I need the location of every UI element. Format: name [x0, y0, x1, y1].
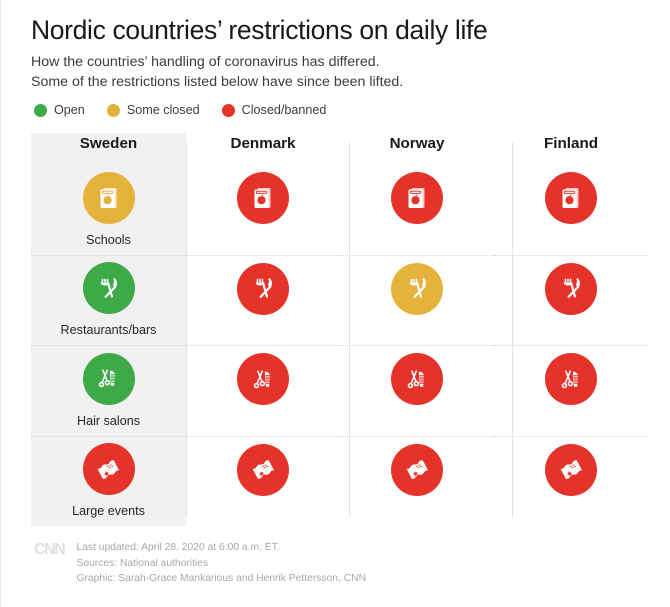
row-label-large-events: Large events: [72, 504, 145, 518]
circle-green-icon: [34, 104, 47, 117]
cell-denmark-schools: [186, 164, 340, 255]
page-subtitle: How the countries’ handling of coronavir…: [31, 52, 646, 92]
status-badge: [83, 353, 135, 405]
status-badge: [237, 353, 289, 405]
fork-knife-icon: [404, 275, 431, 302]
column-header-finland: Finland: [494, 133, 648, 164]
fork-knife-icon: [250, 275, 277, 302]
status-badge: [83, 262, 135, 314]
cell-norway-hair-salons: [340, 345, 494, 436]
legend-item-some-closed: Some closed: [107, 103, 200, 117]
legend-item-open: Open: [34, 103, 85, 117]
ticket-icon: [250, 456, 277, 483]
cell-sweden-hair-salons: Hair salons: [31, 345, 186, 436]
status-badge: [545, 263, 597, 315]
scissors-comb-icon: [95, 365, 122, 392]
legend-label-some-closed: Some closed: [127, 103, 200, 117]
cell-norway-restaurants: [340, 255, 494, 346]
row-label-hair-salons: Hair salons: [77, 414, 140, 428]
legend-item-closed: Closed/banned: [222, 103, 327, 117]
ticket-icon: [404, 456, 431, 483]
column-header-sweden: Sweden: [31, 133, 186, 164]
status-badge: [545, 444, 597, 496]
sources-text: Sources: National authorities: [76, 556, 366, 572]
cell-finland-schools: [494, 164, 648, 255]
circle-yellow-icon: [107, 104, 120, 117]
status-badge: [545, 353, 597, 405]
comparison-matrix: Sweden Denmark Norway Finland Schools: [31, 133, 648, 526]
credits: Last updated: April 28, 2020 at 6:00 a.m…: [76, 540, 366, 587]
book-apple-icon: [96, 185, 122, 211]
status-badge: [83, 443, 135, 495]
cell-denmark-large-events: [186, 436, 340, 527]
cnn-logo-icon: CNN: [34, 540, 64, 559]
legend-label-open: Open: [54, 103, 85, 117]
status-badge: [391, 444, 443, 496]
status-badge: [391, 263, 443, 315]
cell-finland-large-events: [494, 436, 648, 527]
status-badge: [391, 353, 443, 405]
book-apple-icon: [250, 185, 276, 211]
ticket-icon: [95, 456, 122, 483]
status-badge: [237, 444, 289, 496]
cell-norway-schools: [340, 164, 494, 255]
cell-finland-hair-salons: [494, 345, 648, 436]
last-updated-text: Last updated: April 28, 2020 at 6:00 a.m…: [76, 540, 366, 556]
header: Nordic countries’ restrictions on daily …: [1, 1, 670, 92]
fork-knife-icon: [95, 275, 122, 302]
scissors-comb-icon: [250, 366, 277, 393]
cell-denmark-restaurants: [186, 255, 340, 346]
cell-norway-large-events: [340, 436, 494, 527]
page-title: Nordic countries’ restrictions on daily …: [31, 15, 646, 46]
legend-label-closed: Closed/banned: [242, 103, 327, 117]
book-apple-icon: [558, 185, 584, 211]
column-header-denmark: Denmark: [186, 133, 340, 164]
cell-sweden-schools: Schools: [31, 164, 186, 255]
subtitle-line-1: How the countries’ handling of coronavir…: [31, 52, 646, 72]
cell-finland-restaurants: [494, 255, 648, 346]
subtitle-line-2: Some of the restrictions listed below ha…: [31, 72, 646, 92]
cell-sweden-restaurants: Restaurants/bars: [31, 255, 186, 346]
column-header-norway: Norway: [340, 133, 494, 164]
circle-red-icon: [222, 104, 235, 117]
status-badge: [545, 172, 597, 224]
status-badge: [391, 172, 443, 224]
status-badge: [237, 172, 289, 224]
fork-knife-icon: [558, 275, 585, 302]
row-label-schools: Schools: [86, 233, 131, 247]
status-badge: [83, 172, 135, 224]
scissors-comb-icon: [404, 366, 431, 393]
ticket-icon: [558, 456, 585, 483]
scissors-comb-icon: [558, 366, 585, 393]
infographic-root: Nordic countries’ restrictions on daily …: [0, 0, 670, 607]
footer: CNN Last updated: April 28, 2020 at 6:00…: [1, 526, 670, 587]
row-label-restaurants: Restaurants/bars: [61, 323, 157, 337]
cell-sweden-large-events: Large events: [31, 436, 186, 527]
cell-denmark-hair-salons: [186, 345, 340, 436]
book-apple-icon: [404, 185, 430, 211]
graphic-credit-text: Graphic: Sarah-Grace Mankarious and Henr…: [76, 571, 366, 587]
status-badge: [237, 263, 289, 315]
legend: Open Some closed Closed/banned: [1, 92, 670, 117]
